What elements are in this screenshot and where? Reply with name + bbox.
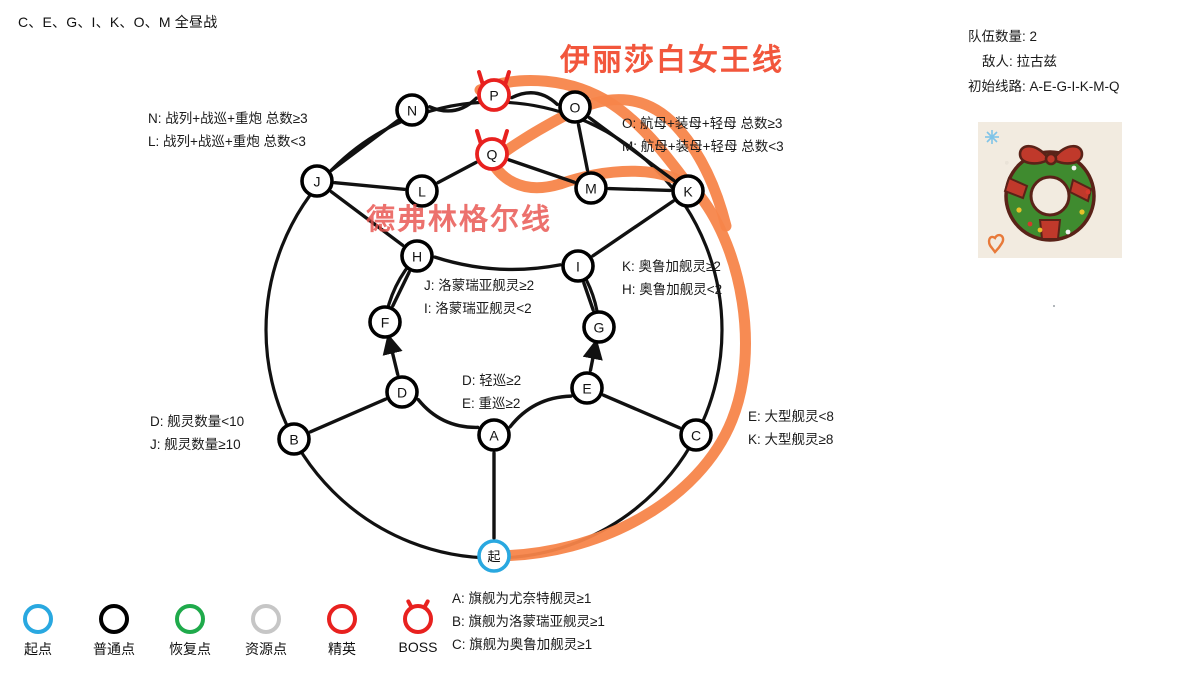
condition-group-nl: N: 战列+战巡+重炮 总数≥3 L: 战列+战巡+重炮 总数<3 [148,107,308,153]
edge-M-O [578,125,587,171]
legend-item-2: 普通点 [86,604,142,659]
map-node-C[interactable]: C [681,420,711,450]
condition-b-flagship: B: 旗舰为洛蒙瑞亚舰灵≥1 [452,610,605,633]
condition-k: K: 奥鲁加舰灵≥2 [622,255,722,278]
map-node-N[interactable]: N [397,95,427,125]
legend-label: 恢复点 [169,639,211,659]
condition-group-dj: D: 舰灵数量<10 J: 舰灵数量≥10 [150,410,244,456]
condition-a-flagship: A: 旗舰为尤奈特舰灵≥1 [452,587,605,610]
node-ring-icon [327,604,357,634]
condition-j-count: J: 舰灵数量≥10 [150,433,244,456]
team-count-label: 队伍数量: [968,29,1026,44]
node-label-D: D [397,385,407,401]
node-label-Q: Q [487,147,498,163]
legend-item-4: 资源点 [238,604,294,659]
map-node-D[interactable]: D [387,377,417,407]
legend-item-3: 恢复点 [162,604,218,659]
node-label-K: K [683,184,693,200]
map-node-K[interactable]: K [673,176,703,206]
map-node-I[interactable]: I [563,251,593,281]
condition-c-flagship: C: 旗舰为奥鲁加舰灵≥1 [452,633,605,656]
initial-route-row: 初始线路: A-E-G-I-K-M-Q [968,74,1120,99]
condition-e-large: E: 大型舰灵<8 [748,405,834,428]
edge-H-I [435,257,560,269]
node-label-N: N [407,103,417,119]
edge-D-F [389,339,398,374]
edge-E-C [604,395,680,428]
condition-d-count: D: 舰灵数量<10 [150,410,244,433]
node-label-start: 起 [487,549,500,564]
legend: 起点普通点恢复点资源点精英BOSS [10,604,446,659]
map-node-start[interactable]: 起 [479,541,509,571]
condition-m: M: 航母+装母+轻母 总数<3 [622,135,784,158]
node-label-P: P [489,88,498,104]
edge-E-G [590,345,595,371]
edge-L-Q [438,162,476,182]
map-node-J[interactable]: J [302,166,332,196]
node-ring-icon [99,604,129,634]
legend-label: 精英 [328,639,356,659]
condition-e-heavy: E: 重巡≥2 [462,392,521,415]
edge-I-K [593,201,673,256]
wreath-illustration [978,122,1122,258]
condition-group-ji: J: 洛蒙瑞亚舰灵≥2 I: 洛蒙瑞亚舰灵<2 [424,274,534,320]
node-label-H: H [412,249,422,265]
map-node-G[interactable]: G [584,312,614,342]
snowflake-icon [985,130,999,144]
route-title-derfflinger: 德弗林格尔线 [366,196,552,238]
map-node-B[interactable]: B [279,424,309,454]
node-label-I: I [576,259,580,275]
node-label-F: F [381,315,390,331]
condition-n: N: 战列+战巡+重炮 总数≥3 [148,107,308,130]
enemy-value: 拉古兹 [1017,54,1058,69]
bow-icon [1020,146,1082,164]
condition-l: L: 战列+战巡+重炮 总数<3 [148,130,308,153]
page-title: C、E、G、I、K、O、M 全昼战 [18,12,217,32]
map-node-Q[interactable]: Q [477,131,507,169]
legend-label: 起点 [24,639,52,659]
node-label-G: G [594,320,605,336]
route-title-elizabeth: 伊丽莎白女王线 [560,35,784,79]
node-label-E: E [582,381,591,397]
condition-o: O: 航母+装母+轻母 总数≥3 [622,112,784,135]
mission-info-panel: 队伍数量: 2 敌人: 拉古兹 初始线路: A-E-G-I-K-M-Q [968,24,1120,99]
node-label-O: O [570,100,581,116]
condition-h: H: 奥鲁加舰灵<2 [622,278,722,301]
node-label-M: M [585,181,597,197]
node-ring-icon [251,604,281,634]
route-map: 起ABCDEFGHIJKLMNOPQ [0,0,1200,674]
legend-label: 资源点 [245,639,287,659]
condition-j: J: 洛蒙瑞亚舰灵≥2 [424,274,534,297]
node-label-B: B [289,432,298,448]
initial-route-value: A-E-G-I-K-M-Q [1030,79,1120,94]
condition-k-large: K: 大型舰灵≥8 [748,428,834,451]
condition-i: I: 洛蒙瑞亚舰灵<2 [424,297,534,320]
map-node-H[interactable]: H [402,241,432,271]
map-node-M[interactable]: M [576,173,606,203]
condition-group-abc: A: 旗舰为尤奈特舰灵≥1 B: 旗舰为洛蒙瑞亚舰灵≥1 C: 旗舰为奥鲁加舰灵… [452,587,605,656]
heart-icon [989,235,1003,252]
legend-item-1: 起点 [10,604,66,659]
enemy-label: 敌人: [982,54,1013,69]
condition-group-kh: K: 奥鲁加舰灵≥2 H: 奥鲁加舰灵<2 [622,255,722,301]
edge-J-N [331,121,397,170]
legend-item-6: BOSS [390,604,446,655]
node-label-C: C [691,428,701,444]
node-ring-icon [23,604,53,634]
initial-route-label: 初始线路: [968,79,1026,94]
node-label-J: J [314,174,321,190]
condition-group-om: O: 航母+装母+轻母 总数≥3 M: 航母+装母+轻母 总数<3 [622,112,784,158]
edge-J-L [335,183,404,190]
edge-D-B [311,399,386,432]
edge-M-Q [509,160,574,182]
map-node-O[interactable]: O [560,92,590,122]
legend-label: 普通点 [93,639,135,659]
legend-item-5: 精英 [314,604,370,659]
node-ring-icon [175,604,205,634]
condition-d-light: D: 轻巡≥2 [462,369,521,392]
map-node-E[interactable]: E [572,373,602,403]
stray-dot [1053,305,1055,307]
enemy-row: 敌人: 拉古兹 [968,49,1120,74]
wreath-icon [978,122,1122,258]
legend-label: BOSS [399,639,438,655]
team-count-value: 2 [1030,29,1038,44]
condition-group-ek: E: 大型舰灵<8 K: 大型舰灵≥8 [748,405,834,451]
map-node-F[interactable]: F [370,307,400,337]
node-label-A: A [489,428,499,444]
condition-group-de: D: 轻巡≥2 E: 重巡≥2 [462,369,521,415]
team-count-row: 队伍数量: 2 [968,24,1120,49]
edge-M-K [609,189,670,191]
boss-node-icon [403,604,433,634]
map-node-A[interactable]: A [479,420,509,450]
